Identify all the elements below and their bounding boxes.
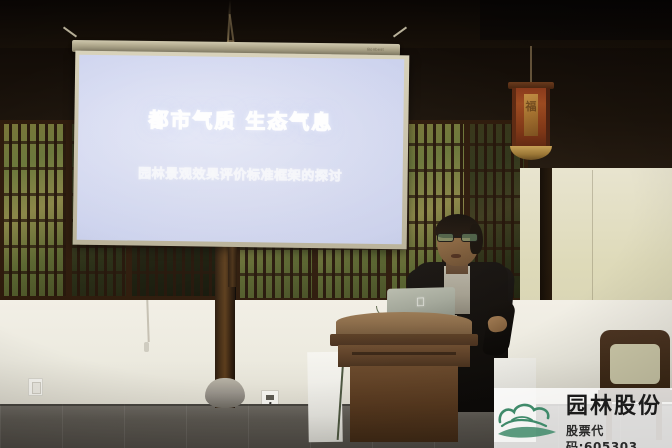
roller-brand-label: Bonbest: [367, 47, 384, 52]
company-name: 园林股份: [566, 394, 672, 420]
glasses-bridge: [454, 236, 461, 237]
podium-base: [350, 366, 458, 442]
company-logo-icon: [496, 396, 566, 442]
projector-screen-stand: [228, 247, 237, 287]
lantern-glyph: 福: [516, 98, 546, 114]
lantern-body: 福: [512, 88, 550, 150]
light-switch-rocker[interactable]: [32, 382, 41, 394]
column-stone-base: [205, 378, 245, 408]
watermark-overlay: 园林股份 股票代码:605303: [494, 388, 672, 448]
window-pull-cord-weight[interactable]: [144, 342, 149, 352]
chair-backrest-opening: [610, 344, 660, 384]
light-switch[interactable]: [28, 378, 43, 396]
ceiling-dark-area: [480, 0, 672, 40]
lattice-window-left: [0, 120, 70, 300]
lantern-cord: [530, 46, 532, 84]
speaker-mouth: [451, 254, 461, 258]
window-frame: [0, 120, 70, 300]
power-outlet-slot: [266, 395, 274, 400]
podium-mid-section: [338, 345, 470, 367]
apple-logo-icon: : [415, 296, 426, 309]
glasses-left-lens: [437, 233, 454, 242]
podium-groove: [352, 352, 456, 355]
slide-title: 都市气质 生态气息: [78, 103, 403, 137]
glasses-right-lens: [461, 233, 478, 242]
screen-vignette: [77, 55, 405, 245]
projector-screen: 都市气质 生态气息 园林景观效果评价标准框架的探讨: [77, 55, 405, 245]
stock-code: 股票代码:605303: [566, 423, 672, 448]
presentation-photo: 福 Bonbest 都市气质 生态气息 园林景观效果评价标准框架的探讨 : [0, 0, 672, 448]
speaker-glasses: [436, 233, 480, 242]
watermark-text-block: 园林股份 股票代码:605303: [566, 394, 672, 448]
